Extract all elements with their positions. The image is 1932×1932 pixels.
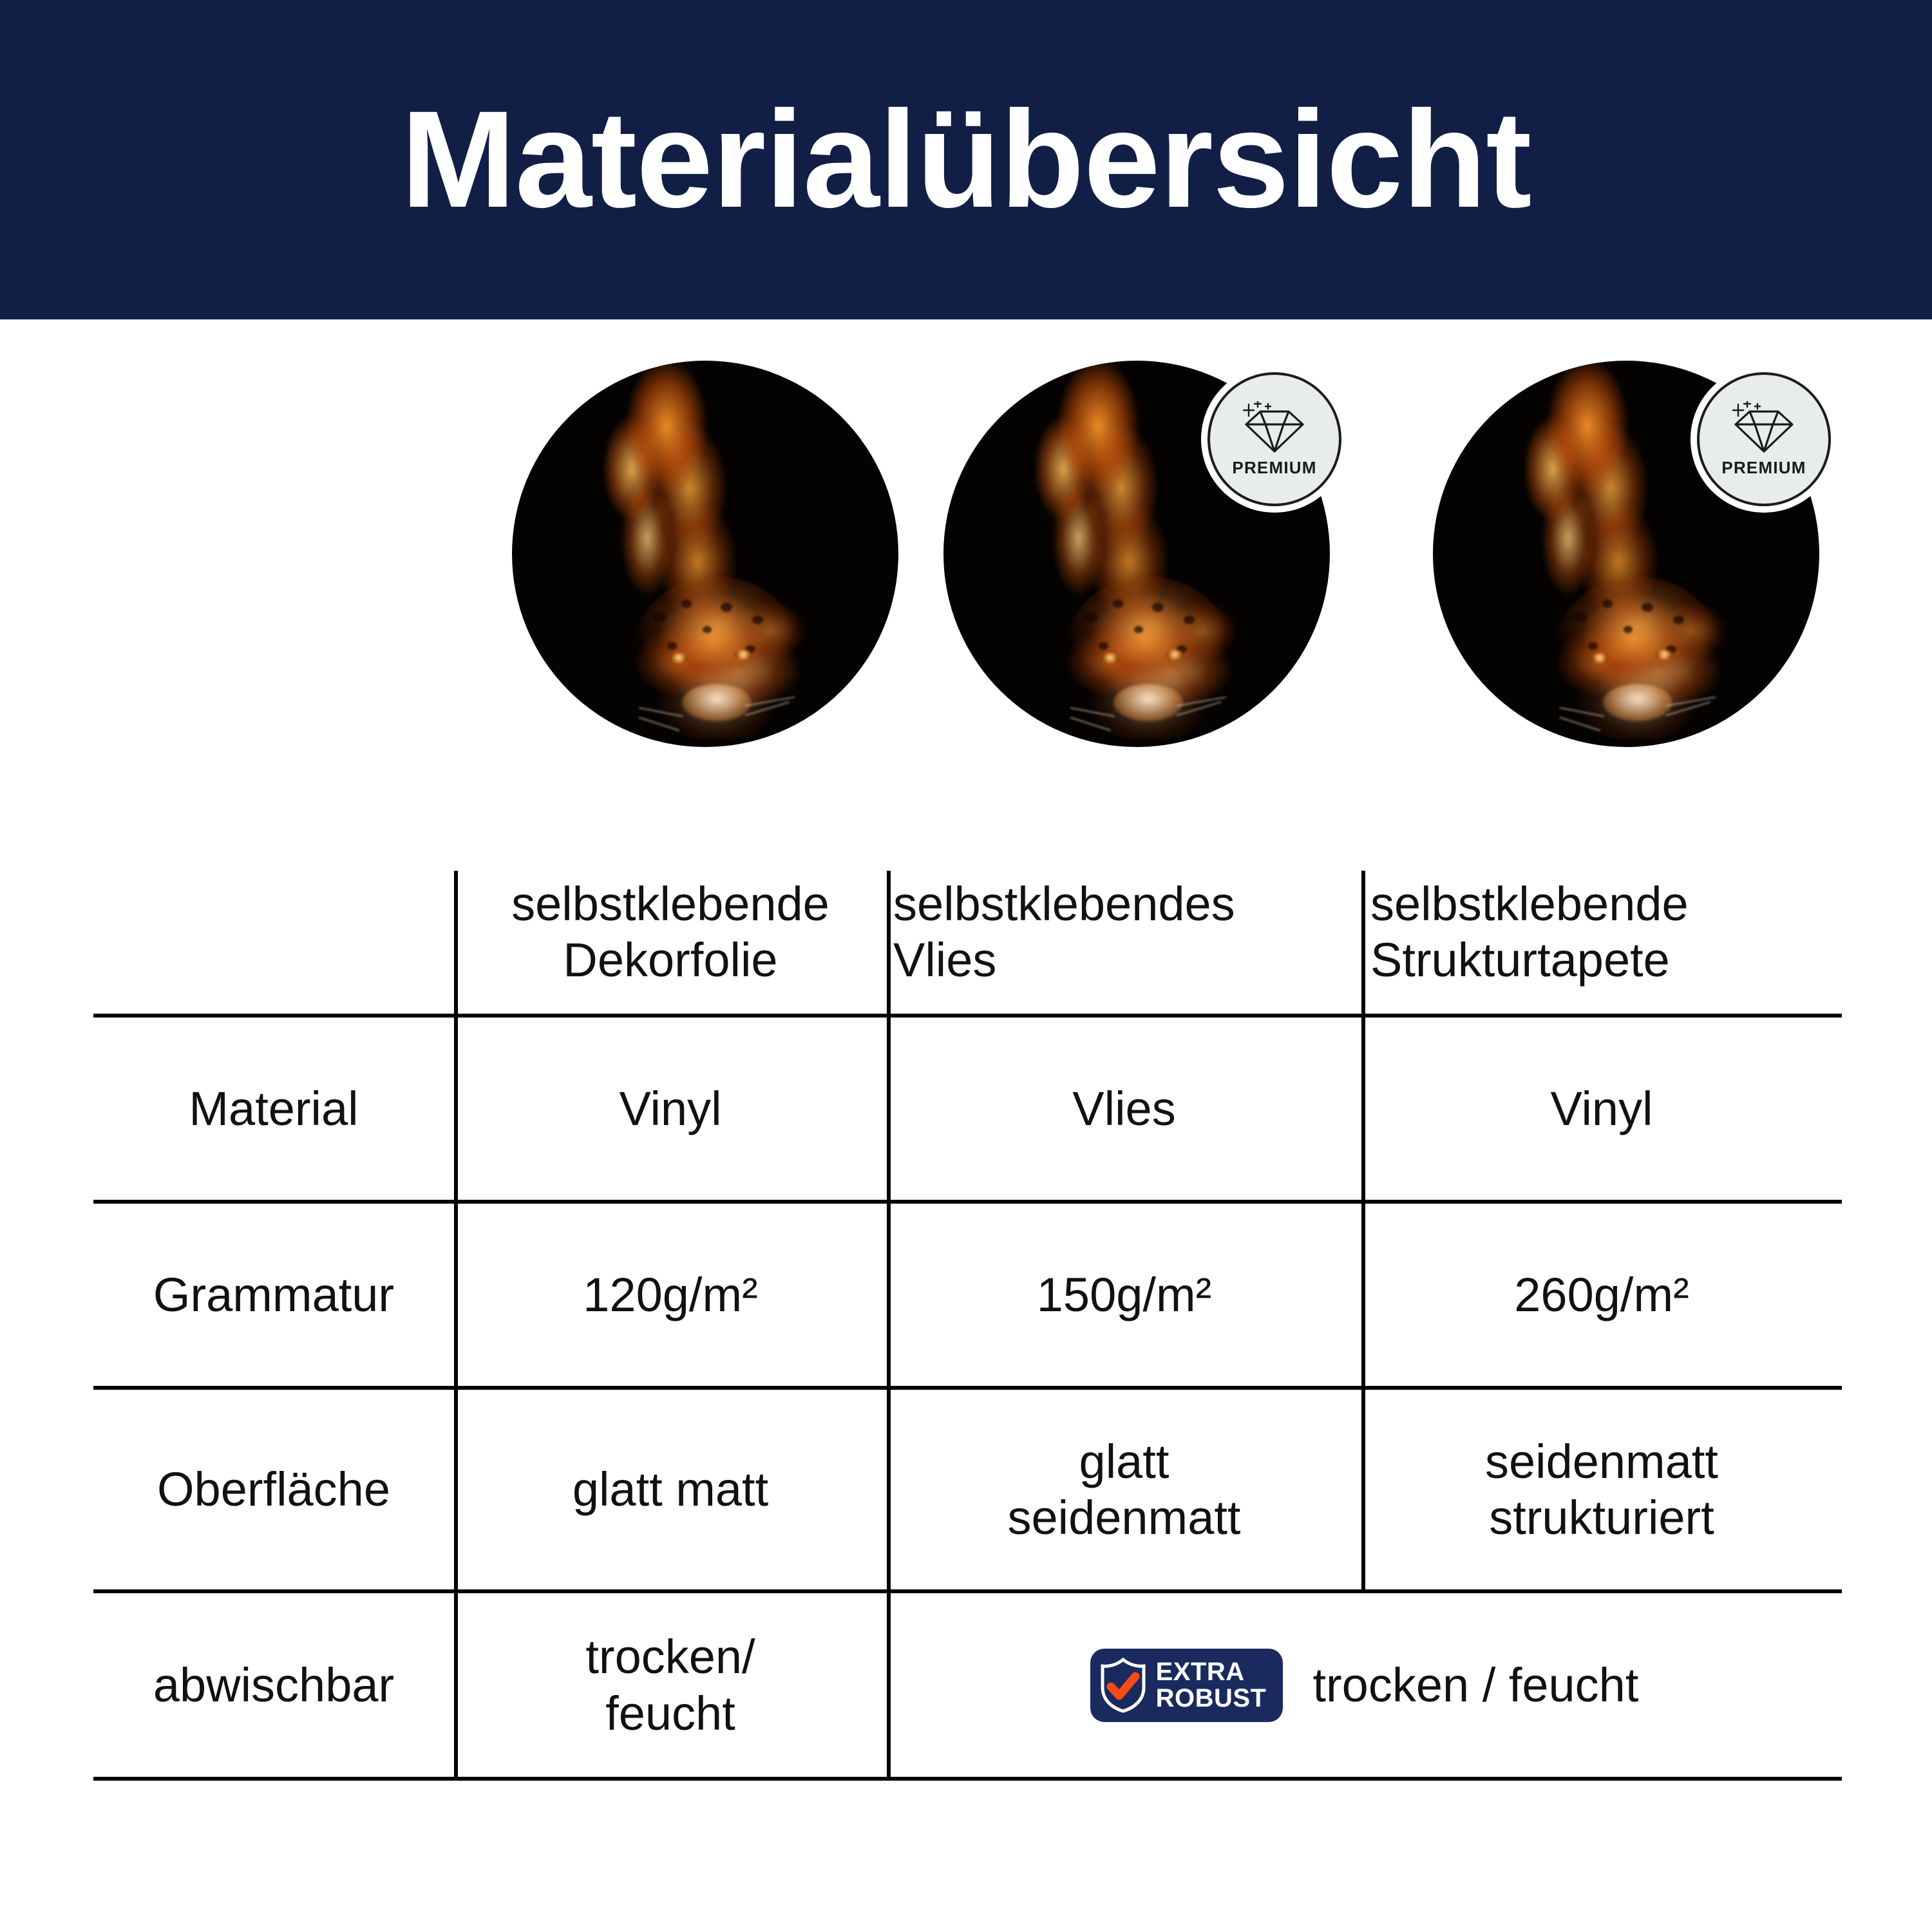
cell-grammatur-2: 150g/m² <box>887 1204 1361 1386</box>
row-label-oberflaeche: Oberfläche <box>93 1390 454 1589</box>
diamond-icon <box>1730 401 1797 454</box>
cell-oberflaeche-3: seidenmatt strukturiert <box>1361 1390 1842 1589</box>
table-corner-cell <box>93 871 454 1014</box>
product-circle-2[interactable]: PREMIUM <box>943 361 1330 747</box>
column-header-1-line2: Dekorfolie <box>511 932 829 988</box>
column-header-2-line2: Vlies <box>893 932 1235 988</box>
extra-robust-line1: EXTRA <box>1156 1659 1267 1685</box>
cell-oberflaeche-2: glatt seidenmatt <box>887 1390 1361 1589</box>
table-header-row: selbstklebende Dekorfolie selbstklebende… <box>93 871 1842 1014</box>
cell-abwischbar-1: trocken/ feucht <box>454 1593 887 1777</box>
column-header-1-line1: selbstklebende <box>511 876 829 932</box>
cell-material-3: Vinyl <box>1361 1018 1842 1200</box>
row-label-material: Material <box>93 1018 454 1200</box>
table-rule-5 <box>93 1777 1842 1781</box>
table-row-abwischbar: abwischbar trocken/ feucht EXTRA ROBUST … <box>93 1593 1842 1777</box>
product-circle-3[interactable]: PREMIUM <box>1433 361 1819 747</box>
column-header-2-line1: selbstklebendes <box>893 876 1235 932</box>
product-image-1 <box>512 361 898 747</box>
product-circle-1[interactable] <box>512 361 898 747</box>
shield-check-icon <box>1099 1658 1147 1713</box>
cell-material-2: Vlies <box>887 1018 1361 1200</box>
page-header: Materialübersicht <box>0 0 1932 319</box>
cell-abwischbar-merged-text: trocken / feucht <box>1312 1657 1638 1713</box>
cell-abwischbar-merged: EXTRA ROBUST trocken / feucht <box>887 1593 1842 1777</box>
cell-material-1: Vinyl <box>454 1018 887 1200</box>
row-label-grammatur: Grammatur <box>93 1204 454 1386</box>
column-header-3: selbstklebende Strukturtapete <box>1361 871 1842 1014</box>
row-label-abwischbar: abwischbar <box>93 1593 454 1777</box>
extra-robust-line2: ROBUST <box>1156 1685 1267 1712</box>
premium-badge-3: PREMIUM <box>1697 372 1831 506</box>
premium-badge-label: PREMIUM <box>1721 458 1806 478</box>
cell-grammatur-3: 260g/m² <box>1361 1204 1842 1386</box>
premium-badge-label: PREMIUM <box>1232 458 1316 478</box>
column-header-3-line1: selbstklebende <box>1370 876 1689 932</box>
material-spec-table: selbstklebende Dekorfolie selbstklebende… <box>93 871 1842 1781</box>
page-title: Materialübersicht <box>401 91 1531 229</box>
diamond-icon <box>1241 401 1308 454</box>
extra-robust-badge: EXTRA ROBUST <box>1090 1649 1283 1722</box>
table-row-oberflaeche: Oberfläche glatt matt glatt seidenmatt s… <box>93 1390 1842 1589</box>
cell-grammatur-1: 120g/m² <box>454 1204 887 1386</box>
table-row-grammatur: Grammatur 120g/m² 150g/m² 260g/m² <box>93 1204 1842 1386</box>
cell-oberflaeche-1: glatt matt <box>454 1390 887 1589</box>
column-header-1: selbstklebende Dekorfolie <box>454 871 887 1014</box>
column-header-3-line2: Strukturtapete <box>1370 932 1689 988</box>
table-row-material: Material Vinyl Vlies Vinyl <box>93 1018 1842 1200</box>
premium-badge-2: PREMIUM <box>1207 372 1341 506</box>
column-header-2: selbstklebendes Vlies <box>887 871 1361 1014</box>
